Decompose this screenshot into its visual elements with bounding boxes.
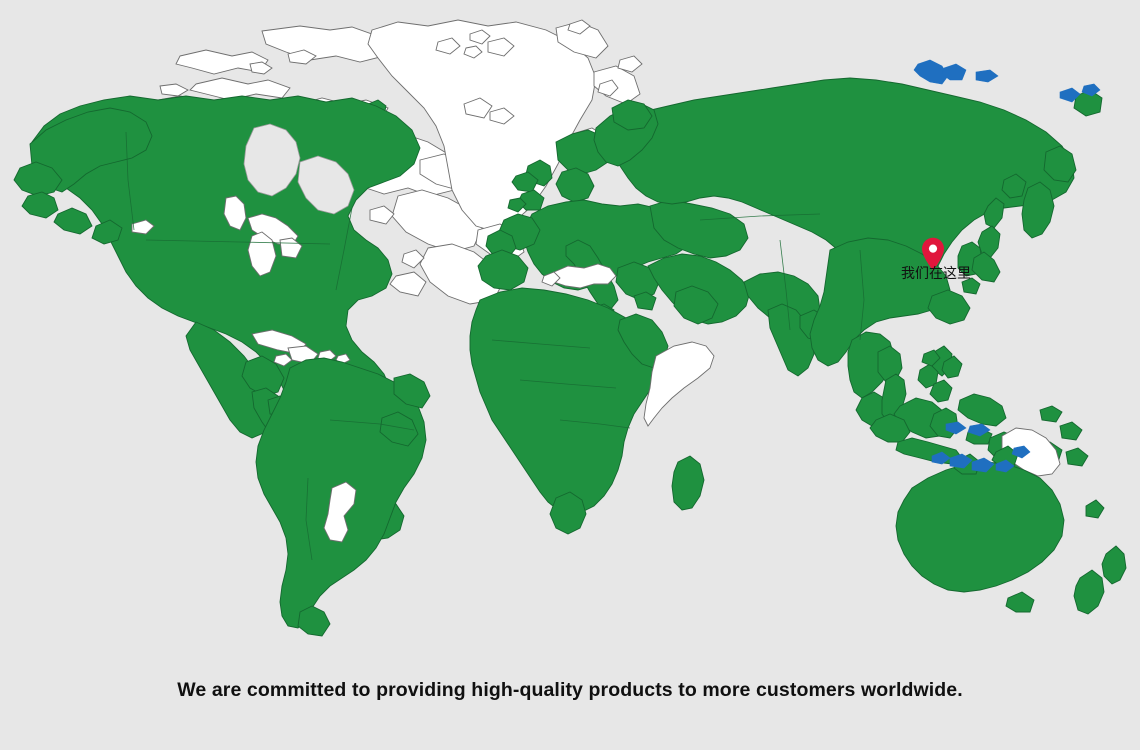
caption-text: We are committed to providing high-quali… bbox=[0, 679, 1140, 702]
world-map: 我们在这里 bbox=[0, 0, 1140, 660]
world-map-graphic: 我们在这里 We are committed to providing high… bbox=[0, 0, 1140, 750]
location-marker-label: 我们在这里 bbox=[901, 266, 971, 282]
world-map-svg bbox=[0, 0, 1140, 660]
